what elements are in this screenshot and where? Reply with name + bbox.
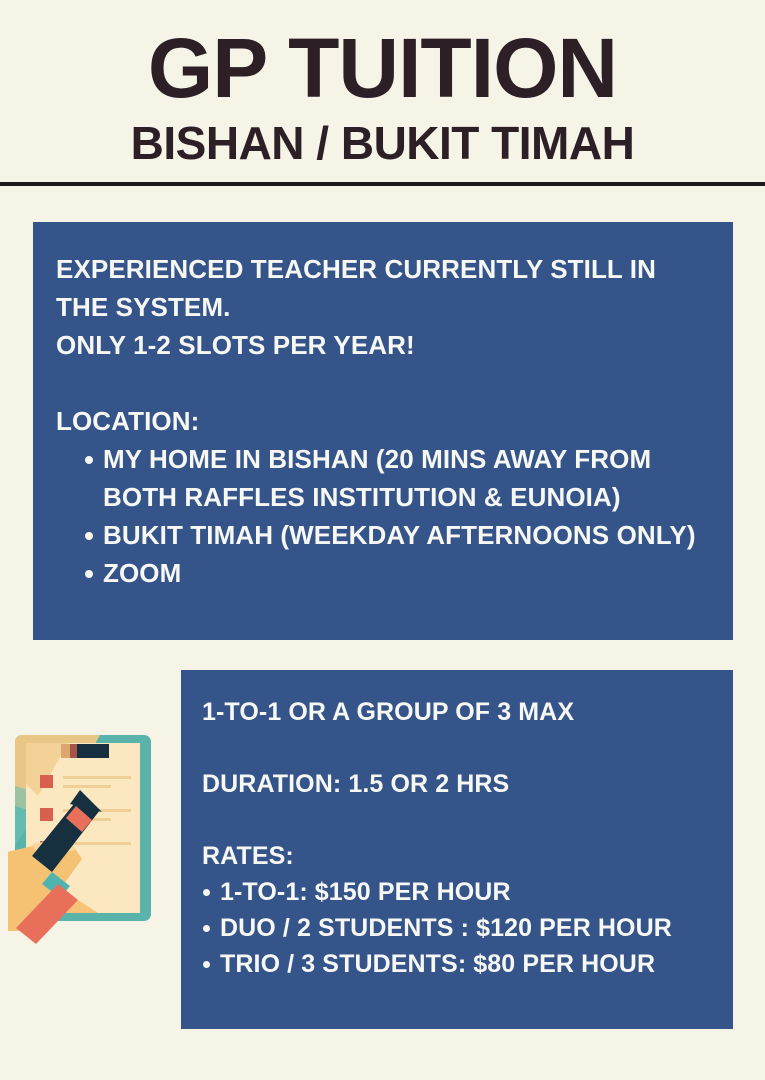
location-list: MY HOME IN BISHAN (20 MINS AWAY FROM BOT… [56, 440, 703, 592]
list-item: MY HOME IN BISHAN (20 MINS AWAY FROM BOT… [56, 440, 703, 516]
info-panel: EXPERIENCED TEACHER CURRENTLY STILL IN T… [33, 222, 733, 640]
poster-header: GP TUITION BISHAN / BUKIT TIMAH [0, 0, 765, 186]
location-label: LOCATION: [56, 402, 703, 440]
list-item: DUO / 2 STUDENTS : $120 PER HOUR [202, 910, 713, 946]
pricing-spacer-1 [202, 730, 713, 766]
info-spacer [56, 364, 703, 402]
rates-list: 1-TO-1: $150 PER HOUR DUO / 2 STUDENTS :… [202, 874, 713, 982]
group-size-line: 1-TO-1 OR A GROUP OF 3 MAX [202, 694, 713, 730]
rates-label: RATES: [202, 838, 713, 874]
list-item: 1-TO-1: $150 PER HOUR [202, 874, 713, 910]
page-title: GP TUITION [0, 26, 765, 110]
pricing-spacer-2 [202, 802, 713, 838]
header-divider [0, 182, 765, 186]
list-item: BUKIT TIMAH (WEEKDAY AFTERNOONS ONLY) [56, 516, 703, 554]
hand-writing-on-clipboard-icon [8, 726, 173, 946]
info-line-slots: ONLY 1-2 SLOTS PER YEAR! [56, 326, 703, 364]
poster-canvas: GP TUITION BISHAN / BUKIT TIMAH EXPERIEN… [0, 0, 765, 1080]
pricing-panel: 1-TO-1 OR A GROUP OF 3 MAX DURATION: 1.5… [181, 670, 733, 1029]
list-item: ZOOM [56, 554, 703, 592]
info-line-experience: EXPERIENCED TEACHER CURRENTLY STILL IN T… [56, 250, 703, 326]
page-subtitle: BISHAN / BUKIT TIMAH [0, 120, 765, 166]
list-item: TRIO / 3 STUDENTS: $80 PER HOUR [202, 946, 713, 982]
duration-line: DURATION: 1.5 OR 2 HRS [202, 766, 713, 802]
